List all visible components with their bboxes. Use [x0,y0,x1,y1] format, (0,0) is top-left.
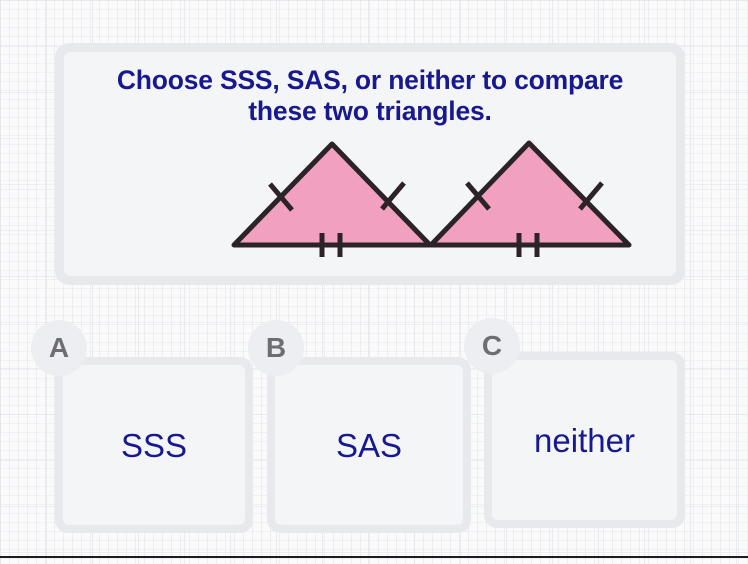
right-triangle [431,143,629,257]
triangles-figure [64,136,676,276]
question-card: Choose SSS, SAS, or neither to compare t… [55,43,685,285]
answer-badge-c-letter: C [482,332,502,360]
answer-option-b[interactable]: SAS [267,357,471,533]
quiz-screen: Choose SSS, SAS, or neither to compare t… [0,0,748,564]
answer-option-c-inner: neither [492,360,677,520]
answer-option-b-label: SAS [336,429,402,462]
right-triangle-shape [431,143,629,245]
answer-badge-b-letter: B [266,334,286,362]
answer-option-a[interactable]: SSS [55,357,253,533]
question-card-inner: Choose SSS, SAS, or neither to compare t… [64,52,676,276]
answer-option-c-label: neither [534,424,635,457]
answer-badge-b: B [248,320,304,376]
answer-badge-a-letter: A [49,334,69,362]
answer-option-a-inner: SSS [63,365,245,525]
left-triangle [234,144,430,257]
answer-option-b-inner: SAS [275,365,463,525]
question-prompt-text: Choose SSS, SAS, or neither to compare t… [64,65,676,128]
bottom-divider [0,556,748,558]
answer-badge-a: A [31,320,87,376]
answer-option-c[interactable]: neither [484,352,685,528]
answer-option-a-label: SSS [121,429,187,462]
answer-badge-c: C [464,318,520,374]
left-triangle-shape [234,144,430,245]
triangles-svg [64,136,676,276]
